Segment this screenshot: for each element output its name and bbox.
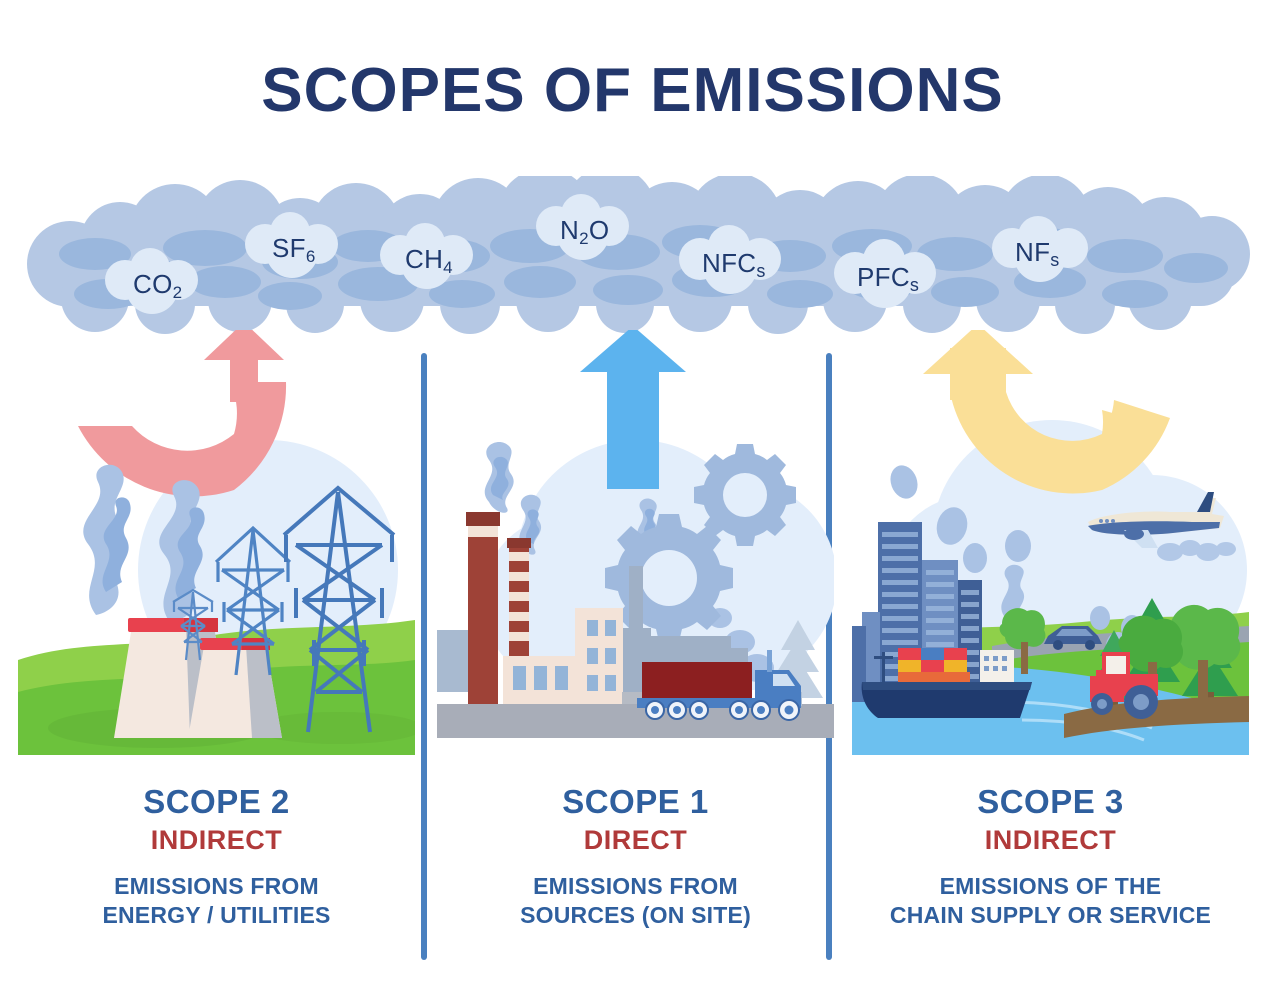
gas-label-n2o: N2O xyxy=(560,215,609,246)
scope-1-heading: SCOPE 1 xyxy=(437,783,834,821)
scope-3-description-line-2: CHAIN SUPPLY OR SERVICE xyxy=(852,901,1249,930)
scope-2-description-line-2: ENERGY / UTILITIES xyxy=(18,901,415,930)
panel-divider-left xyxy=(421,353,427,960)
page-title: SCOPES OF EMISSIONS xyxy=(0,60,1265,122)
scope-1-type: DIRECT xyxy=(437,825,834,856)
chimney-tall xyxy=(466,512,500,704)
scope-2-heading: SCOPE 2 xyxy=(18,783,415,821)
chimney-short-striped xyxy=(507,538,531,672)
gas-label-co2: CO2 xyxy=(133,269,182,300)
illustration-scope-3 xyxy=(852,330,1249,755)
illustration-scope-1 xyxy=(437,330,834,755)
illustration-scope-2 xyxy=(18,330,415,755)
caption-scope-3: SCOPE 3 INDIRECT EMISSIONS OF THE CHAIN … xyxy=(852,783,1249,931)
caption-scope-1: SCOPE 1 DIRECT EMISSIONS FROM SOURCES (O… xyxy=(437,783,834,931)
gas-label-nfs: NFs xyxy=(1015,237,1060,268)
scope-3-description-line-1: EMISSIONS OF THE xyxy=(852,872,1249,901)
gas-label-sf6: SF6 xyxy=(272,233,316,264)
gas-label-pfcs: PFCs xyxy=(857,262,919,293)
gas-label-nfcs: NFCs xyxy=(702,248,766,279)
gas-label-ch4: CH4 xyxy=(405,244,453,275)
scope-3-heading: SCOPE 3 xyxy=(852,783,1249,821)
caption-scope-2: SCOPE 2 INDIRECT EMISSIONS FROM ENERGY /… xyxy=(18,783,415,931)
container-ship-icon xyxy=(862,648,1032,718)
scope-1-description-line-1: EMISSIONS FROM xyxy=(437,872,834,901)
scope-2-description-line-1: EMISSIONS FROM xyxy=(18,872,415,901)
scope-3-type: INDIRECT xyxy=(852,825,1249,856)
greenhouse-gas-cloud-band xyxy=(0,176,1265,336)
scope-2-type: INDIRECT xyxy=(18,825,415,856)
scope-1-description-line-2: SOURCES (ON SITE) xyxy=(437,901,834,930)
